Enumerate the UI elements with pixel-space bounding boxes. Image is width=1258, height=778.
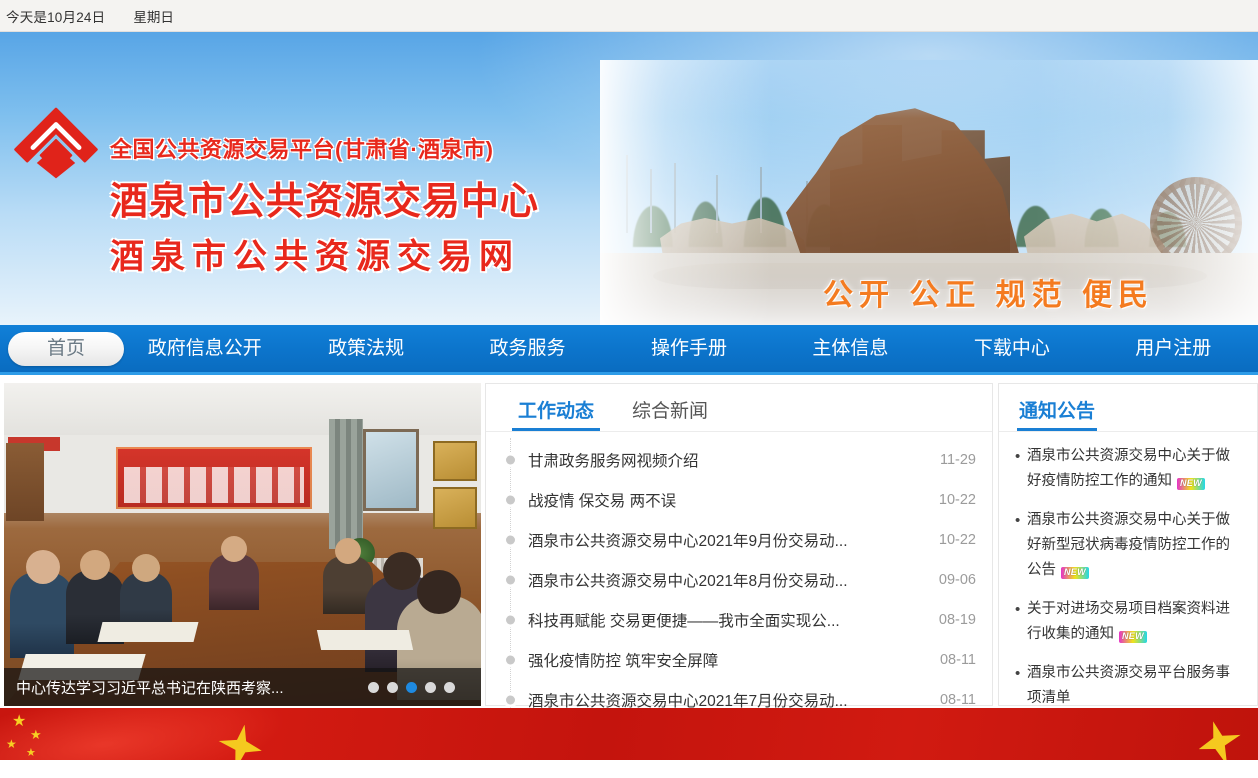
notice-panel-title: 通知公告 [1017, 396, 1101, 431]
news-item-date: 08-19 [939, 612, 976, 628]
bullet-icon [506, 496, 515, 505]
carousel-dot-1[interactable] [368, 682, 379, 693]
site-title-block: 全国公共资源交易平台(甘肃省·酒泉市) 酒泉市公共资源交易中心 酒泉市公共资源交… [110, 132, 539, 278]
news-list-item[interactable]: 甘肃政务服务网视频介绍 11-29 [502, 440, 976, 480]
main-content: 中心传达学习习近平总书记在陕西考察... 工作动态 综合新闻 甘肃政务服务网视频… [0, 375, 1258, 705]
news-list-item[interactable]: 酒泉市公共资源交易中心2021年9月份交易动... 10-22 [502, 520, 976, 560]
tab-work-updates[interactable]: 工作动态 [512, 396, 600, 431]
bullet-icon [506, 536, 515, 545]
nav-item-user-registration[interactable]: 用户注册 [1093, 332, 1254, 366]
bullet-icon [506, 616, 515, 625]
red-strip-swirl [0, 708, 305, 760]
platform-title: 全国公共资源交易平台(甘肃省·酒泉市) [110, 132, 539, 164]
notice-item-text[interactable]: 酒泉市公共资源交易中心关于做好新型冠状病毒疫情防控工作的公告 [1027, 512, 1230, 578]
news-item-date: 10-22 [939, 532, 976, 548]
center-title: 酒泉市公共资源交易中心 [110, 170, 539, 225]
nav-item-entity-info[interactable]: 主体信息 [770, 332, 931, 366]
notice-list-item[interactable]: • 酒泉市公共资源交易中心关于做好疫情防控工作的通知NEW [1015, 444, 1243, 494]
bullet-icon [506, 456, 515, 465]
news-item-title[interactable]: 酒泉市公共资源交易中心2021年8月份交易动... [528, 569, 939, 591]
news-tab-bar: 工作动态 综合新闻 [486, 384, 992, 432]
bullet-icon: • [1015, 508, 1027, 583]
star-icon: ★ [26, 748, 36, 759]
notice-list-item[interactable]: • 酒泉市公共资源交易中心关于做好新型冠状病毒疫情防控工作的公告NEW [1015, 508, 1243, 583]
new-badge: NEW [1061, 567, 1089, 579]
tab-general-news[interactable]: 综合新闻 [626, 396, 714, 431]
bullet-icon: • [1015, 444, 1027, 494]
news-item-title[interactable]: 酒泉市公共资源交易中心2021年9月份交易动... [528, 529, 939, 551]
banner-slogan: 公开 公正 规范 便民 [823, 270, 1154, 314]
carousel-dots [368, 682, 469, 693]
news-item-date: 08-11 [940, 692, 976, 708]
star-icon: ★ [12, 714, 26, 730]
news-panel: 工作动态 综合新闻 甘肃政务服务网视频介绍 11-29 战疫情 保交易 两不误 … [485, 383, 993, 706]
nav-item-operation-manual[interactable]: 操作手册 [608, 332, 769, 366]
carousel-photo-meeting-room [4, 383, 481, 706]
news-item-title[interactable]: 战疫情 保交易 两不误 [528, 489, 939, 511]
new-badge: NEW [1177, 478, 1205, 490]
notice-panel-header: 通知公告 [999, 384, 1257, 432]
news-list-item[interactable]: 科技再赋能 交易更便捷——我市全面实现公... 08-19 [502, 600, 976, 640]
bullet-icon: • [1015, 597, 1027, 647]
trade-center-logo-icon [8, 90, 104, 186]
star-icon: ★ [30, 728, 42, 741]
weekday-text: 星期日 [133, 6, 174, 26]
decorative-red-strip: ★ ★ ★ ★ [0, 708, 1258, 760]
notice-list: • 酒泉市公共资源交易中心关于做好疫情防控工作的通知NEW • 酒泉市公共资源交… [999, 432, 1257, 711]
nav-item-home[interactable]: 首页 [8, 332, 124, 366]
today-date-text: 今天是10月24日 [6, 6, 105, 26]
carousel-dot-4[interactable] [425, 682, 436, 693]
main-navigation: 首页 政府信息公开 政策法规 政务服务 操作手册 主体信息 下载中心 用户注册 [0, 325, 1258, 375]
bullet-icon [506, 696, 515, 705]
news-list-item[interactable]: 酒泉市公共资源交易中心2021年8月份交易动... 09-06 [502, 560, 976, 600]
bullet-icon [506, 576, 515, 585]
carousel-caption-text[interactable]: 中心传达学习习近平总书记在陕西考察... [16, 677, 368, 698]
nav-item-download-center[interactable]: 下载中心 [931, 332, 1092, 366]
news-item-title[interactable]: 强化疫情防控 筑牢安全屏障 [528, 649, 940, 671]
notice-list-item[interactable]: • 酒泉市公共资源交易平台服务事项清单 [1015, 661, 1243, 711]
network-title: 酒泉市公共资源交易网 [110, 229, 539, 278]
news-list: 甘肃政务服务网视频介绍 11-29 战疫情 保交易 两不误 10-22 酒泉市公… [486, 432, 992, 720]
notice-panel: 通知公告 • 酒泉市公共资源交易中心关于做好疫情防控工作的通知NEW • 酒泉市… [998, 383, 1258, 706]
carousel-dot-3[interactable] [406, 682, 417, 693]
news-carousel[interactable]: 中心传达学习习近平总书记在陕西考察... [4, 383, 481, 706]
top-date-bar: 今天是10月24日 星期日 [0, 0, 1258, 32]
notice-list-item[interactable]: • 关于对进场交易项目档案资料进行收集的通知NEW [1015, 597, 1243, 647]
bullet-icon [506, 656, 515, 665]
news-list-item[interactable]: 强化疫情防控 筑牢安全屏障 08-11 [502, 640, 976, 680]
star-icon: ★ [6, 738, 17, 750]
nav-item-government-info[interactable]: 政府信息公开 [124, 332, 285, 366]
carousel-dot-2[interactable] [387, 682, 398, 693]
bullet-icon: • [1015, 661, 1027, 711]
carousel-dot-5[interactable] [444, 682, 455, 693]
nav-item-government-services[interactable]: 政务服务 [447, 332, 608, 366]
site-banner: 全国公共资源交易平台(甘肃省·酒泉市) 酒泉市公共资源交易中心 酒泉市公共资源交… [0, 32, 1258, 325]
news-item-title[interactable]: 科技再赋能 交易更便捷——我市全面实现公... [528, 609, 939, 631]
nav-item-policy-regulations[interactable]: 政策法规 [285, 332, 446, 366]
carousel-caption-bar: 中心传达学习习近平总书记在陕西考察... [4, 668, 481, 706]
news-item-date: 10-22 [939, 492, 976, 508]
news-item-date: 09-06 [939, 572, 976, 588]
notice-item-text[interactable]: 酒泉市公共资源交易平台服务事项清单 [1027, 661, 1243, 711]
news-item-date: 08-11 [940, 652, 976, 668]
news-item-title[interactable]: 甘肃政务服务网视频介绍 [528, 449, 940, 471]
news-item-date: 11-29 [940, 452, 976, 468]
news-list-item[interactable]: 战疫情 保交易 两不误 10-22 [502, 480, 976, 520]
new-badge: NEW [1119, 631, 1147, 643]
flame-icon [1192, 714, 1251, 760]
